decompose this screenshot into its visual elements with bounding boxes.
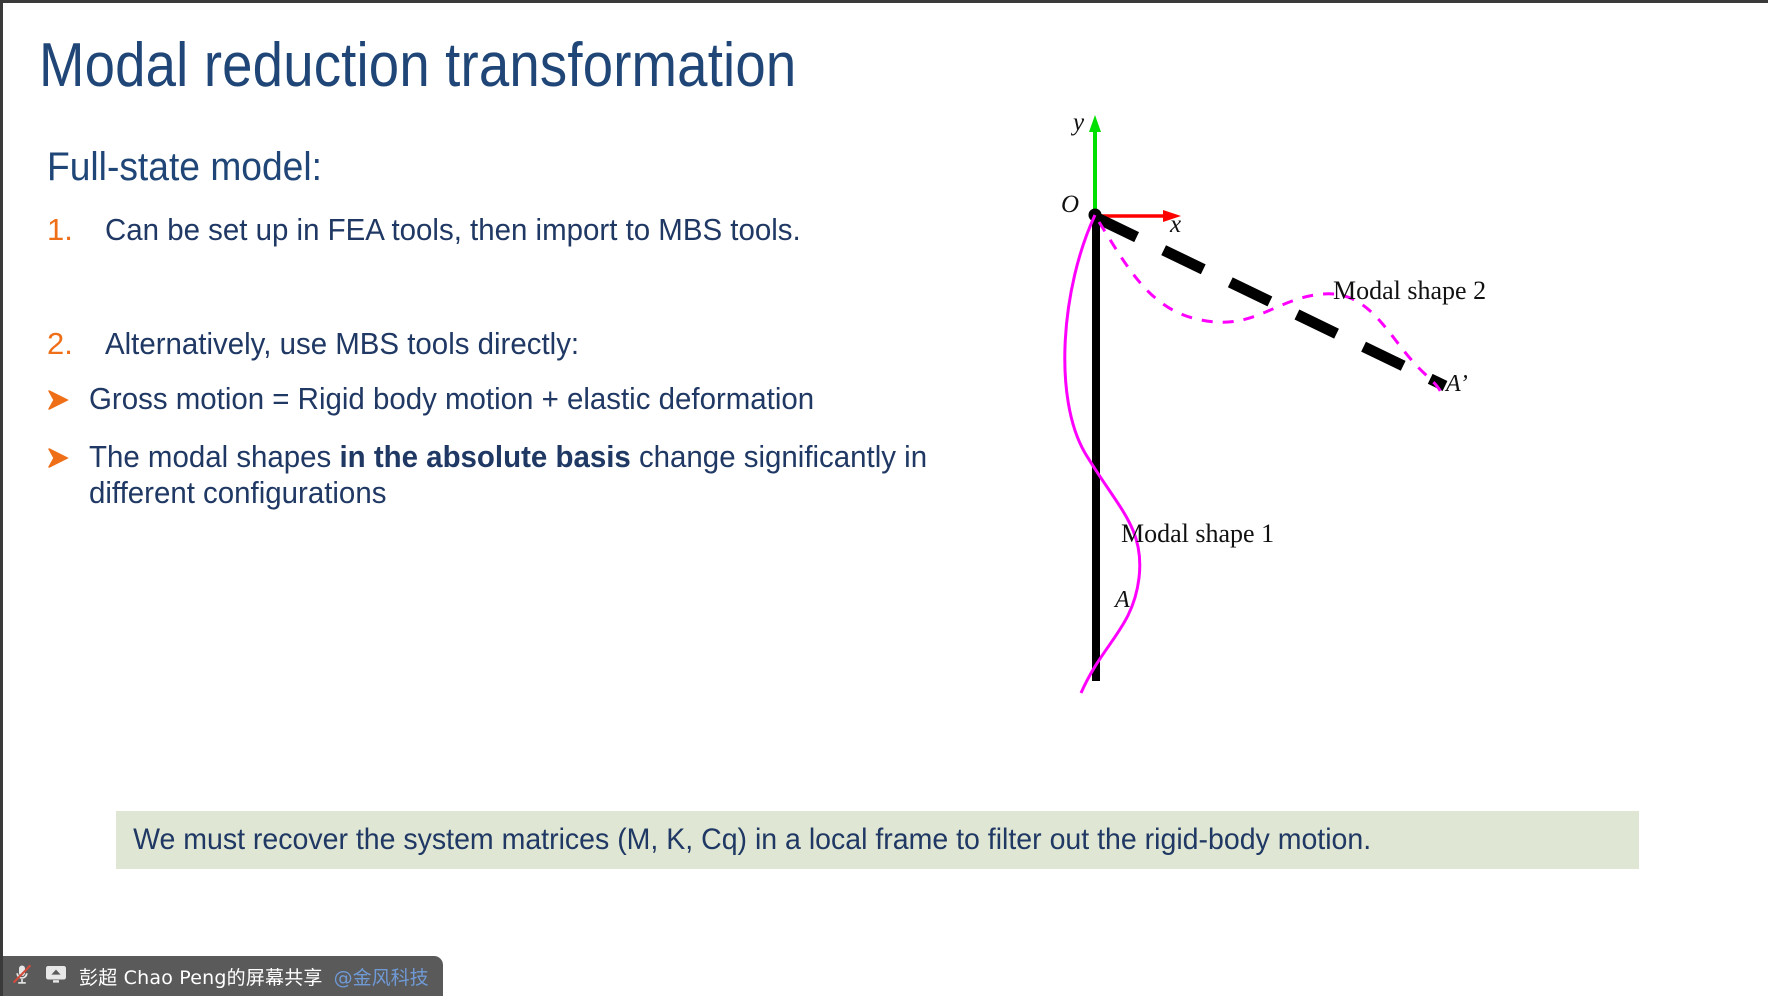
- callout-text: We must recover the system matrices (M, …: [116, 823, 1371, 857]
- section-heading: Full-state model:: [47, 145, 940, 190]
- arrow-list-text-2-bold: in the absolute basis: [339, 439, 630, 474]
- arrow-bullet-marker-2: [47, 439, 89, 473]
- diagram-svg: [1023, 98, 1763, 698]
- screen-share-icon[interactable]: [44, 963, 68, 990]
- arrow-bullet-marker-1: [47, 381, 89, 415]
- callout-box: We must recover the system matrices (M, …: [116, 811, 1639, 869]
- arrow-list-item-2: The modal shapes in the absolute basis c…: [47, 439, 1007, 512]
- arrow-bullet-icon: [47, 443, 71, 465]
- label-x-axis: x: [1170, 211, 1181, 239]
- screen-share-bar[interactable]: 彭超 Chao Peng的屏幕共享 @金风科技: [3, 956, 443, 996]
- label-modal-shape-2: Modal shape 2: [1333, 276, 1486, 306]
- share-presenter-name: 彭超 Chao Peng的屏幕共享: [79, 963, 323, 990]
- page-title: Modal reduction transformation: [39, 33, 919, 98]
- list-text-2: Alternatively, use MBS tools directly:: [105, 326, 962, 362]
- arrow-list-text-2-pre: The modal shapes: [89, 439, 339, 474]
- body-content: Full-state model: 1. Can be set up in FE…: [47, 145, 1007, 533]
- list-number-1: 1.: [47, 212, 105, 248]
- beam-modal-shape-diagram: y x O A A’ Modal shape 1 Modal shape 2: [1023, 98, 1763, 698]
- list-text-1: Can be set up in FEA tools, then import …: [105, 212, 962, 248]
- arrow-list-text-2: The modal shapes in the absolute basis c…: [89, 439, 961, 512]
- arrow-list-item-1: Gross motion = Rigid body motion + elast…: [47, 381, 1007, 417]
- list-number-2: 2.: [47, 326, 105, 362]
- label-origin: O: [1061, 191, 1079, 219]
- label-modal-shape-1: Modal shape 1: [1121, 519, 1274, 549]
- modal-shape-2-curve: [1099, 222, 1442, 394]
- presentation-slide: Modal reduction transformation Full-stat…: [0, 0, 1768, 996]
- arrow-list-text-1: Gross motion = Rigid body motion + elast…: [89, 381, 961, 417]
- numbered-list-item-1: 1. Can be set up in FEA tools, then impo…: [47, 212, 1007, 248]
- list-spacer: [47, 266, 1007, 326]
- y-axis-arrow: [1089, 115, 1101, 216]
- numbered-list-item-2: 2. Alternatively, use MBS tools directly…: [47, 326, 1007, 362]
- arrow-bullet-icon: [47, 385, 71, 407]
- modal-shape-1-curve: [1065, 215, 1140, 693]
- share-organization: @金风科技: [334, 963, 429, 990]
- microphone-muted-icon[interactable]: [11, 963, 33, 990]
- label-y-axis: y: [1073, 109, 1084, 137]
- label-point-a-prime: A’: [1446, 371, 1468, 398]
- label-point-a: A: [1115, 587, 1130, 614]
